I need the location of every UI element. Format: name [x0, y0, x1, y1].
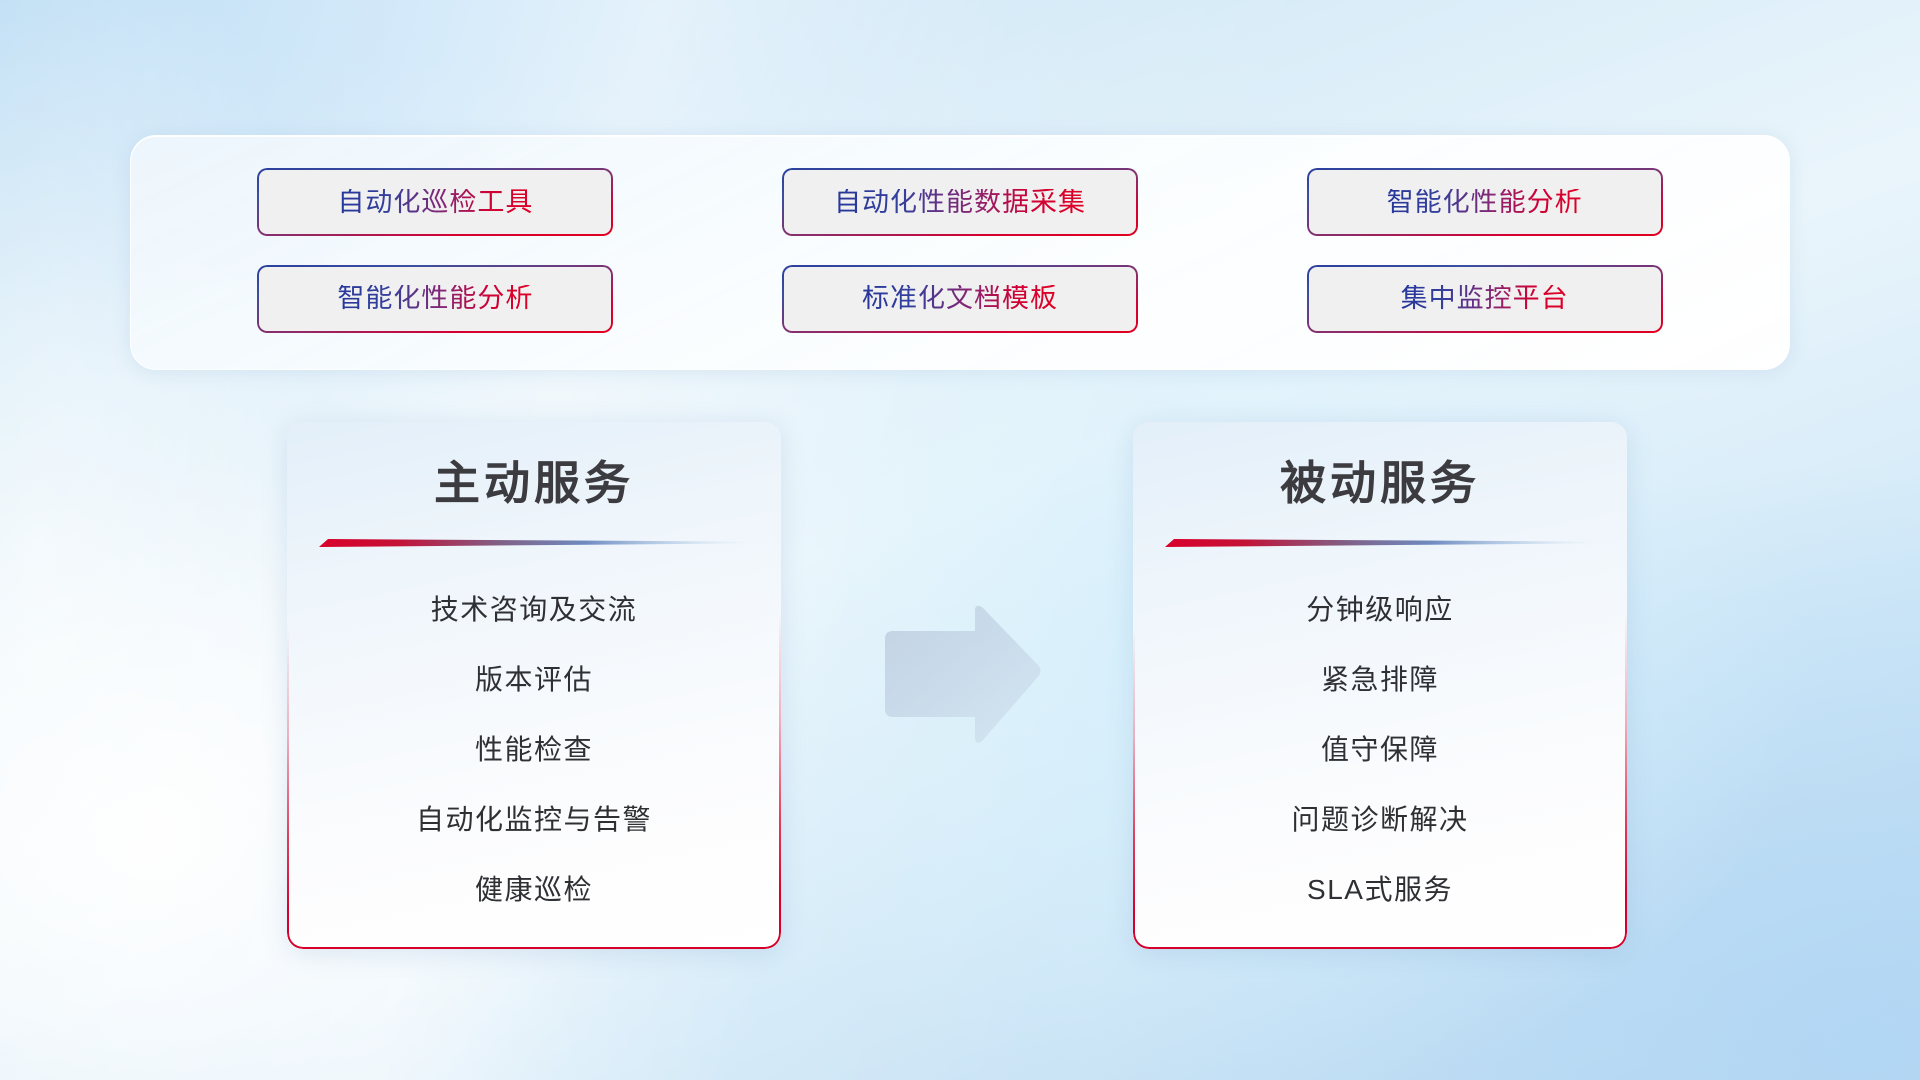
capability-pill-2[interactable]: 自动化性能数据采集	[782, 168, 1138, 236]
capability-pill-label: 集中监控平台	[1401, 285, 1569, 312]
capability-pill-label: 智能化性能分析	[1387, 189, 1583, 216]
list-item[interactable]: 技术咨询及交流	[431, 575, 638, 645]
capability-pill-grid: 自动化巡检工具 自动化性能数据采集 智能化性能分析 智能化性能分析 标准化文档模…	[131, 136, 1789, 369]
list-item[interactable]: 紧急排障	[1321, 645, 1439, 715]
card-divider	[319, 537, 749, 551]
capability-pill-6[interactable]: 集中监控平台	[1307, 265, 1663, 333]
card-title: 主动服务	[287, 456, 781, 511]
list-item[interactable]: 自动化监控与告警	[416, 785, 652, 855]
card-list-active: 技术咨询及交流 版本评估 性能检查 自动化监控与告警 健康巡检	[287, 575, 781, 925]
capability-pill-label: 自动化性能数据采集	[834, 189, 1086, 216]
card-title: 被动服务	[1133, 456, 1627, 511]
list-item[interactable]: 健康巡检	[475, 855, 593, 925]
card-divider	[1165, 537, 1595, 551]
list-item[interactable]: 问题诊断解决	[1291, 785, 1468, 855]
list-item[interactable]: 值守保障	[1321, 715, 1439, 785]
capability-pill-1[interactable]: 自动化巡检工具	[257, 168, 613, 236]
capability-pill-3[interactable]: 智能化性能分析	[1307, 168, 1663, 236]
capability-pill-label: 标准化文档模板	[862, 285, 1058, 312]
service-card-passive: 被动服务 分钟级响应 紧急排障 值守保障 问题诊断解决 SLA式服务	[1133, 422, 1627, 949]
service-card-active: 主动服务 技术咨询及交流 版本评估 性能检查 自动化监控与告警 健康巡检	[287, 422, 781, 949]
capability-pill-5[interactable]: 标准化文档模板	[782, 265, 1138, 333]
list-item[interactable]: 性能检查	[475, 715, 593, 785]
right-arrow-icon	[879, 600, 1043, 748]
capability-panel: 自动化巡检工具 自动化性能数据采集 智能化性能分析 智能化性能分析 标准化文档模…	[130, 135, 1790, 370]
capability-pill-label: 自动化巡检工具	[337, 189, 533, 216]
list-item[interactable]: SLA式服务	[1307, 855, 1453, 925]
card-list-passive: 分钟级响应 紧急排障 值守保障 问题诊断解决 SLA式服务	[1133, 575, 1627, 925]
list-item[interactable]: 分钟级响应	[1306, 575, 1454, 645]
capability-pill-4[interactable]: 智能化性能分析	[257, 265, 613, 333]
list-item[interactable]: 版本评估	[475, 645, 593, 715]
capability-pill-label: 智能化性能分析	[337, 285, 533, 312]
